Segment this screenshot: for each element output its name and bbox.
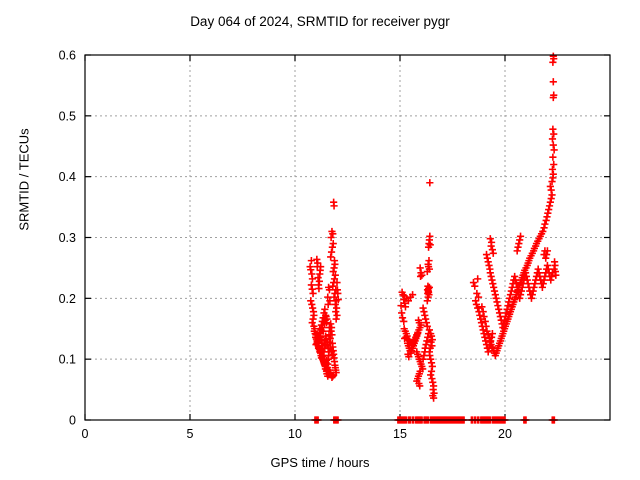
data-point-marker (485, 258, 492, 265)
data-point-marker (525, 280, 532, 287)
data-point-marker (332, 308, 339, 315)
chart-container: Day 064 of 2024, SRMTID for receiver pyg… (0, 0, 640, 480)
data-point-marker (514, 244, 521, 251)
y-tick-label: 0.1 (59, 353, 76, 367)
data-point-marker (321, 306, 328, 313)
data-point-marker (476, 312, 483, 319)
data-point-marker (327, 253, 334, 260)
data-point-marker (547, 199, 554, 206)
data-point-marker (329, 244, 336, 251)
data-point-marker (424, 297, 431, 304)
data-point-marker (488, 242, 495, 249)
x-tick-label: 5 (187, 427, 194, 441)
data-point-marker (548, 191, 555, 198)
data-point-marker (423, 337, 430, 344)
data-point-marker (470, 279, 477, 286)
data-point-marker (330, 202, 337, 209)
data-point-marker (427, 371, 434, 378)
data-point-marker (547, 183, 554, 190)
data-point-marker (551, 146, 558, 153)
data-point-marker (549, 126, 556, 133)
data-point-marker (427, 356, 434, 363)
data-point-marker (308, 301, 315, 308)
data-point-marker (484, 255, 491, 262)
data-point-marker (483, 251, 490, 258)
data-point-marker (543, 213, 550, 220)
data-point-marker (308, 257, 315, 264)
data-point-marker (492, 291, 499, 298)
data-point-marker (421, 312, 428, 319)
y-tick-label: 0 (69, 414, 76, 428)
data-point-marker (309, 290, 316, 297)
data-point-marker (426, 352, 433, 359)
data-point-marker (425, 257, 432, 264)
data-point-marker (511, 273, 518, 280)
data-point-marker (487, 269, 494, 276)
data-point-marker (548, 195, 555, 202)
data-point-marker (400, 318, 407, 325)
data-point-marker (315, 274, 322, 281)
data-point-marker (473, 290, 480, 297)
data-point-marker (309, 315, 316, 322)
x-tick-label: 15 (393, 427, 407, 441)
data-point-marker (489, 246, 496, 253)
data-point-marker (422, 315, 429, 322)
data-point-marker (544, 210, 551, 217)
data-point-marker (545, 206, 552, 213)
scatter-plot-svg: 0510152000.10.20.30.40.50.6 (0, 0, 640, 480)
y-tick-label: 0.4 (59, 170, 76, 184)
data-point-marker (531, 280, 538, 287)
data-point-marker (542, 255, 549, 262)
data-point-marker (535, 266, 542, 273)
data-point-marker (428, 375, 435, 382)
data-point-marker (546, 202, 553, 209)
data-point-marker (333, 312, 340, 319)
data-point-marker (548, 178, 555, 185)
data-point-marker (508, 287, 515, 294)
data-point-marker (550, 141, 557, 148)
data-point-marker (517, 233, 524, 240)
data-point-marker (549, 166, 556, 173)
data-point-marker (309, 304, 316, 311)
data-point-marker (328, 249, 335, 256)
data-point-marker (428, 359, 435, 366)
data-point-marker (543, 217, 550, 224)
data-point-marker (530, 284, 537, 291)
data-point-marker (327, 320, 334, 327)
data-point-marker (495, 306, 502, 313)
y-tick-label: 0.2 (59, 292, 76, 306)
data-point-marker (496, 309, 503, 316)
data-point-marker (550, 78, 557, 85)
data-point-marker (398, 309, 405, 316)
y-tick-label: 0.3 (59, 231, 76, 245)
data-point-marker (515, 240, 522, 247)
data-point-marker (506, 295, 513, 302)
data-point-marker (426, 179, 433, 186)
data-point-marker (539, 284, 546, 291)
data-point-marker (429, 379, 436, 386)
data-point-marker (488, 273, 495, 280)
data-point-marker (420, 304, 427, 311)
data-point-marker (316, 278, 323, 285)
data-point-marker (333, 315, 340, 322)
data-point-marker (327, 328, 334, 335)
x-tick-label: 20 (498, 427, 512, 441)
data-point-marker (490, 284, 497, 291)
data-point-marker (309, 275, 316, 282)
data-point-marker (549, 135, 556, 142)
data-point-marker (315, 285, 322, 292)
data-point-marker (417, 273, 424, 280)
data-point-marker (549, 154, 556, 161)
data-point-marker (544, 262, 551, 269)
data-point-marker (547, 276, 554, 283)
data-point-marker (429, 363, 436, 370)
data-point-marker (474, 275, 481, 282)
plot-area: 0510152000.10.20.30.40.50.6 (0, 0, 640, 480)
y-tick-label: 0.5 (59, 109, 76, 123)
data-point-marker (491, 287, 498, 294)
data-point-marker (428, 368, 435, 375)
data-point-marker (493, 295, 500, 302)
data-point-marker (325, 301, 332, 308)
data-point-marker (309, 286, 316, 293)
data-point-marker (541, 221, 548, 228)
data-point-marker (485, 262, 492, 269)
x-tick-label: 10 (288, 427, 302, 441)
data-point-marker (493, 298, 500, 305)
data-point-marker (331, 261, 338, 268)
x-tick-label: 0 (82, 427, 89, 441)
data-point-marker (333, 304, 340, 311)
data-point-marker (489, 280, 496, 287)
data-point-marker (426, 233, 433, 240)
data-point-marker (474, 304, 481, 311)
data-point-marker (313, 256, 320, 263)
data-point-marker (550, 130, 557, 137)
data-point-marker (551, 258, 558, 265)
data-point-marker (330, 264, 337, 271)
data-point-marker (420, 308, 427, 315)
data-point-marker (487, 235, 494, 242)
data-point-marker (485, 348, 492, 355)
data-point-marker (490, 250, 497, 257)
data-point-marker (548, 186, 555, 193)
data-point-marker (514, 247, 521, 254)
data-point-marker (310, 312, 317, 319)
data-point-marker (550, 161, 557, 168)
data-point-marker (308, 281, 315, 288)
tick-labels: 0510152000.10.20.30.40.50.6 (59, 49, 512, 442)
data-point-marker (417, 264, 424, 271)
data-point-marker (494, 302, 501, 309)
data-point-marker (307, 297, 314, 304)
y-tick-label: 0.6 (59, 49, 76, 63)
data-point-marker (516, 236, 523, 243)
data-point-marker (488, 276, 495, 283)
gridlines (85, 55, 610, 420)
data-point-marker (528, 295, 535, 302)
data-points (307, 53, 560, 424)
data-point-marker (471, 283, 478, 290)
